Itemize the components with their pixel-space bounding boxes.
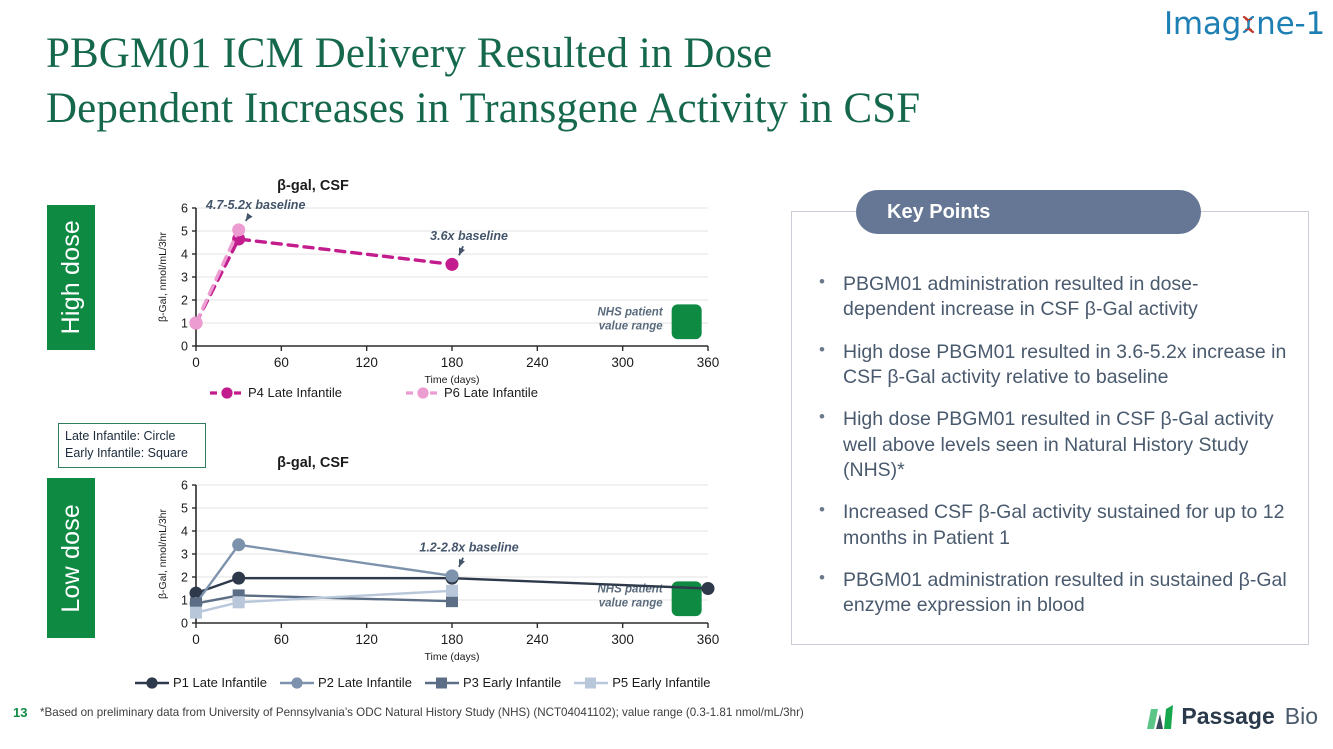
annotation-arrowhead: [246, 213, 253, 221]
y-tick-label: 0: [181, 340, 188, 354]
x-tick-label: 300: [611, 632, 634, 647]
key-points-header-text: Key Points: [887, 201, 990, 224]
annotation-label: 4.7-5.2x baseline: [205, 198, 305, 212]
x-tick-label: 0: [192, 632, 200, 647]
legend-item: P3 Early Infantile: [425, 675, 561, 690]
high-dose-chart-legend: P4 Late InfantileP6 Late Infantile: [210, 385, 538, 400]
y-tick-label: 5: [181, 225, 188, 239]
high-dose-chart: β-gal, CSF 0123456060120180240300360Time…: [100, 178, 760, 403]
annotation-label: 3.6x baseline: [430, 229, 508, 243]
legend-swatch-icon: [406, 386, 440, 400]
y-tick-label: 4: [181, 525, 188, 539]
x-tick-label: 300: [611, 355, 634, 370]
slide: PBGM01 ICM Delivery Resulted in Dose Dep…: [0, 0, 1333, 749]
x-axis-label: Time (days): [424, 651, 479, 663]
y-tick-label: 2: [181, 294, 188, 308]
x-tick-label: 60: [274, 355, 289, 370]
legend-item: P5 Early Infantile: [574, 675, 710, 690]
legend-swatch-icon: [425, 676, 459, 690]
nhs-band-label: value range: [599, 597, 664, 609]
passage-bio-name: Passage: [1181, 703, 1274, 730]
series-line: [196, 239, 452, 323]
high-dose-chart-title: β-gal, CSF: [148, 178, 478, 194]
y-tick-label: 5: [181, 502, 188, 516]
imagine-1-logo: Imag ne-1: [1164, 6, 1325, 42]
x-tick-label: 120: [355, 632, 378, 647]
passage-bio-logo: Passage Bio: [1147, 703, 1318, 730]
x-tick-label: 180: [441, 355, 464, 370]
x-tick-label: 180: [441, 632, 464, 647]
imagine-logo-pre: Imag: [1164, 6, 1241, 42]
y-tick-label: 4: [181, 248, 188, 262]
series-marker: [446, 585, 458, 597]
footnote: *Based on preliminary data from Universi…: [40, 706, 1100, 719]
y-axis-label: β-Gal, nmol/mL/3hr: [157, 508, 169, 599]
high-dose-label: High dose: [47, 205, 95, 350]
annotation-label: 1.2-2.8x baseline: [419, 541, 518, 555]
key-point-item: PBGM01 administration resulted in dose-d…: [812, 272, 1290, 323]
high-dose-text: High dose: [57, 220, 86, 334]
imagine-logo-post: ne-1: [1256, 6, 1325, 42]
series-marker: [232, 223, 245, 236]
dna-helix-icon: [1241, 8, 1256, 42]
y-tick-label: 3: [181, 548, 188, 562]
y-tick-label: 1: [181, 594, 188, 608]
legend-swatch-icon: [210, 386, 244, 400]
series-marker: [702, 582, 715, 595]
legend-label: P1 Late Infantile: [173, 675, 267, 690]
title-line-1: PBGM01 ICM Delivery Resulted in Dose: [46, 30, 772, 77]
x-tick-label: 0: [192, 355, 200, 370]
x-tick-label: 360: [697, 632, 720, 647]
y-tick-label: 6: [181, 479, 188, 493]
key-point-item: PBGM01 administration resulted in sustai…: [812, 568, 1290, 619]
marker-key-line-1: Late Infantile: Circle: [65, 428, 199, 445]
series-marker: [446, 569, 459, 582]
low-dose-chart-plot: 0123456060120180240300360Time (days)β-Ga…: [100, 455, 760, 680]
legend-label: P4 Late Infantile: [248, 385, 342, 400]
y-tick-label: 6: [181, 202, 188, 216]
legend-item: P4 Late Infantile: [210, 385, 342, 400]
series-marker: [190, 607, 202, 619]
series-marker: [233, 596, 245, 608]
y-tick-label: 0: [181, 617, 188, 631]
y-tick-label: 2: [181, 571, 188, 585]
legend-item: P2 Late Infantile: [280, 675, 412, 690]
series-marker: [232, 538, 245, 551]
nhs-value-range-band: [672, 304, 702, 339]
x-tick-label: 60: [274, 632, 289, 647]
series-marker: [232, 572, 245, 585]
page-number: 13: [13, 705, 27, 720]
key-points-list: PBGM01 administration resulted in dose-d…: [812, 272, 1290, 636]
title-line-2: Dependent Increases in Transgene Activit…: [46, 81, 1086, 136]
legend-label: P3 Early Infantile: [463, 675, 561, 690]
page-title: PBGM01 ICM Delivery Resulted in Dose Dep…: [46, 26, 1086, 136]
y-tick-label: 1: [181, 317, 188, 331]
legend-label: P2 Late Infantile: [318, 675, 412, 690]
x-tick-label: 240: [526, 632, 549, 647]
legend-swatch-icon: [135, 676, 169, 690]
key-point-item: High dose PBGM01 resulted in CSF β-Gal a…: [812, 407, 1290, 483]
series-marker: [446, 595, 458, 607]
passage-bio-suffix: Bio: [1285, 703, 1318, 730]
x-tick-label: 360: [697, 355, 720, 370]
x-tick-label: 240: [526, 355, 549, 370]
legend-swatch-icon: [280, 676, 314, 690]
series-line: [196, 230, 239, 323]
key-point-item: Increased CSF β-Gal activity sustained f…: [812, 500, 1290, 551]
low-dose-chart-title: β-gal, CSF: [148, 455, 478, 471]
low-dose-label: Low dose: [47, 478, 95, 638]
nhs-band-label: value range: [599, 320, 664, 332]
passage-bio-mark-icon: [1147, 705, 1173, 729]
legend-item: P1 Late Infantile: [135, 675, 267, 690]
series-marker: [190, 317, 203, 330]
high-dose-chart-plot: 0123456060120180240300360Time (days)β-Ga…: [100, 178, 760, 403]
legend-label: P5 Early Infantile: [612, 675, 710, 690]
key-points-header: Key Points: [856, 190, 1201, 234]
legend-swatch-icon: [574, 676, 608, 690]
y-axis-label: β-Gal, nmol/mL/3hr: [157, 231, 169, 322]
low-dose-text: Low dose: [57, 504, 86, 613]
nhs-band-label: NHS patient: [597, 306, 663, 318]
x-tick-label: 120: [355, 355, 378, 370]
legend-label: P6 Late Infantile: [444, 385, 538, 400]
low-dose-chart: β-gal, CSF 0123456060120180240300360Time…: [100, 455, 760, 680]
key-point-item: High dose PBGM01 resulted in 3.6-5.2x in…: [812, 340, 1290, 391]
legend-item: P6 Late Infantile: [406, 385, 538, 400]
y-tick-label: 3: [181, 271, 188, 285]
series-marker: [446, 258, 459, 271]
low-dose-chart-legend: P1 Late InfantileP2 Late InfantileP3 Ear…: [135, 675, 711, 690]
